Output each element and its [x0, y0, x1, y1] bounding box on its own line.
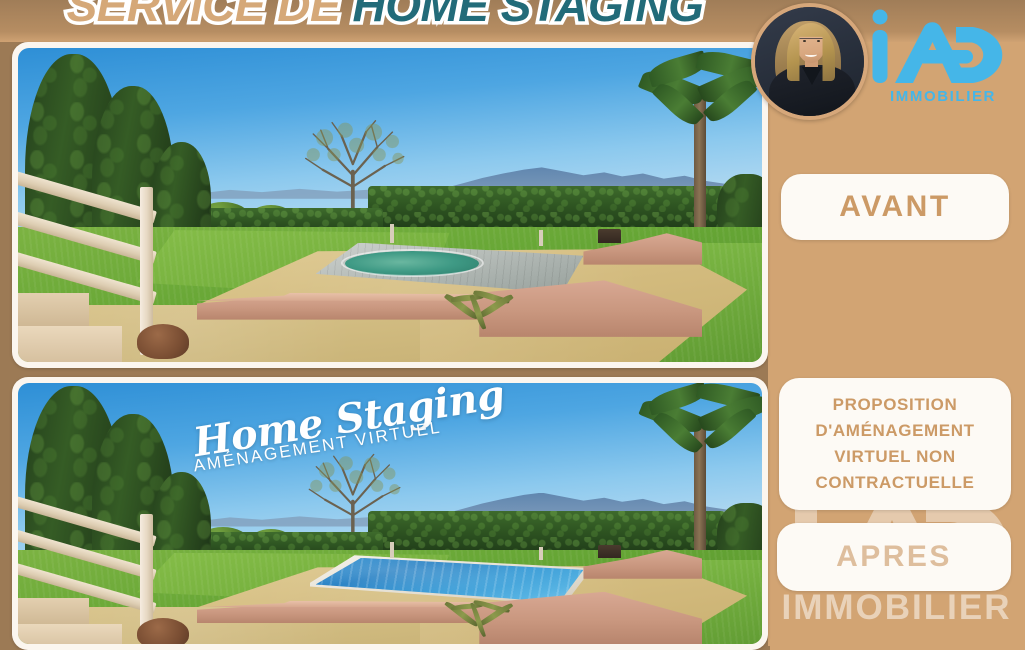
pool-rim: [341, 249, 484, 277]
after-photo-frame[interactable]: Home Staging AMÉNAGEMENT VIRTUEL: [12, 377, 768, 650]
flower-bed: [137, 324, 189, 359]
garden-light: [390, 224, 394, 243]
step: [18, 326, 122, 362]
after-photo[interactable]: Home Staging AMÉNAGEMENT VIRTUEL: [18, 383, 762, 644]
agent-avatar[interactable]: [751, 3, 868, 120]
page-title-part1: SERVICE DE: [67, 0, 341, 31]
iad-logo-icon: [868, 8, 1018, 86]
glasses-icon: [797, 38, 825, 45]
disclaimer-text: PROPOSITION D'AMÉNAGEMENT VIRTUEL NON CO…: [815, 392, 974, 495]
poster-canvas: IMMOBILIER SERVICE DE HOME STAGING: [0, 0, 1025, 650]
disclaimer-line-4: CONTRACTUELLE: [815, 470, 974, 496]
page-title: SERVICE DE HOME STAGING: [0, 0, 770, 32]
disclaimer-line-3: VIRTUEL NON: [815, 444, 974, 470]
brand-subtitle: IMMOBILIER: [868, 88, 1018, 105]
avatar-smile: [805, 52, 817, 57]
before-photo[interactable]: [18, 48, 762, 362]
garden-light: [539, 547, 543, 560]
after-label-text: APRES: [836, 540, 952, 574]
flower-bed: [137, 618, 189, 644]
ornamental-grass: [442, 293, 516, 331]
garden-light: [539, 230, 543, 246]
after-label-panel: APRES: [777, 523, 1011, 591]
step: [18, 293, 89, 329]
before-label-panel: AVANT: [781, 174, 1009, 240]
page-title-part2: HOME STAGING: [352, 0, 703, 31]
watermark-immobilier-text: IMMOBILIER: [768, 588, 1025, 628]
disclaimer-line-1: PROPOSITION: [815, 392, 974, 418]
garden-light: [390, 542, 394, 558]
before-label-text: AVANT: [839, 190, 950, 224]
ornamental-grass: [442, 602, 516, 636]
disclaimer-panel: PROPOSITION D'AMÉNAGEMENT VIRTUEL NON CO…: [779, 378, 1011, 510]
disclaimer-line-2: D'AMÉNAGEMENT: [815, 418, 974, 444]
step: [18, 624, 122, 644]
before-photo-frame[interactable]: [12, 42, 768, 368]
patio-chair: [598, 229, 620, 243]
patio-chair: [598, 545, 620, 558]
brand-logo-block[interactable]: IMMOBILIER: [868, 8, 1018, 120]
